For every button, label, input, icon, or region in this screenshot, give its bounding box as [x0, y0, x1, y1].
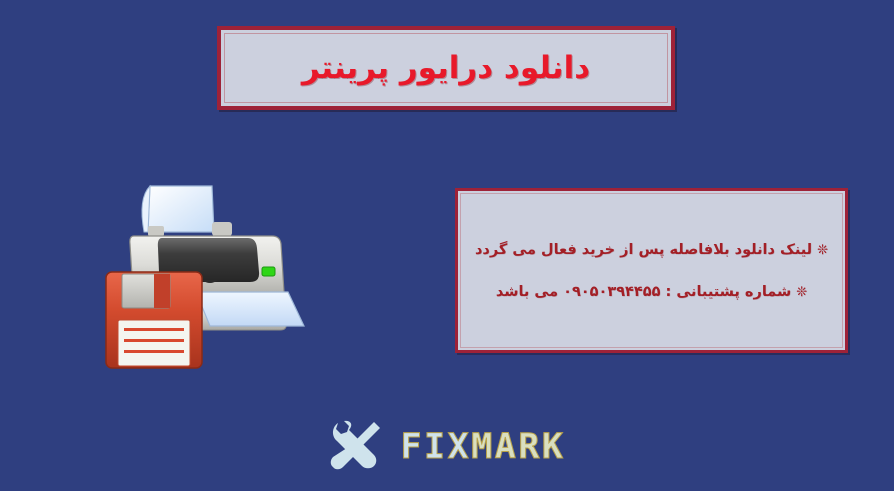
brand-name-mark: MARK — [471, 427, 565, 467]
brand-tools-svg — [328, 419, 386, 475]
info-line-download-activation: ❊لینک دانلود بلافاصله پس از خرید فعال می… — [475, 242, 828, 258]
star-icon: ❊ — [796, 285, 807, 300]
wrench-and-screwdriver-icon — [328, 419, 386, 475]
printer-illustration-svg — [92, 174, 308, 370]
page-title: دانلود درایور پرینتر — [302, 51, 590, 85]
star-icon: ❊ — [817, 243, 828, 258]
brand-name-fix: FIX — [400, 427, 471, 467]
title-banner: دانلود درایور پرینتر — [217, 26, 675, 110]
info-box: ❊لینک دانلود بلافاصله پس از خرید فعال می… — [455, 188, 848, 353]
info-line-support-number: ❊شماره پشتیبانی : ۰۹۰۵۰۳۹۴۴۵۵ می باشد — [496, 284, 807, 300]
printer-with-floppy-disk-icon — [92, 174, 308, 370]
brand-logo: FIXMARK — [0, 414, 894, 480]
info-line-2-text: شماره پشتیبانی : ۰۹۰۵۰۳۹۴۴۵۵ می باشد — [496, 284, 791, 300]
info-line-1-text: لینک دانلود بلافاصله پس از خرید فعال می … — [475, 242, 812, 258]
brand-name: FIXMARK — [400, 430, 565, 465]
